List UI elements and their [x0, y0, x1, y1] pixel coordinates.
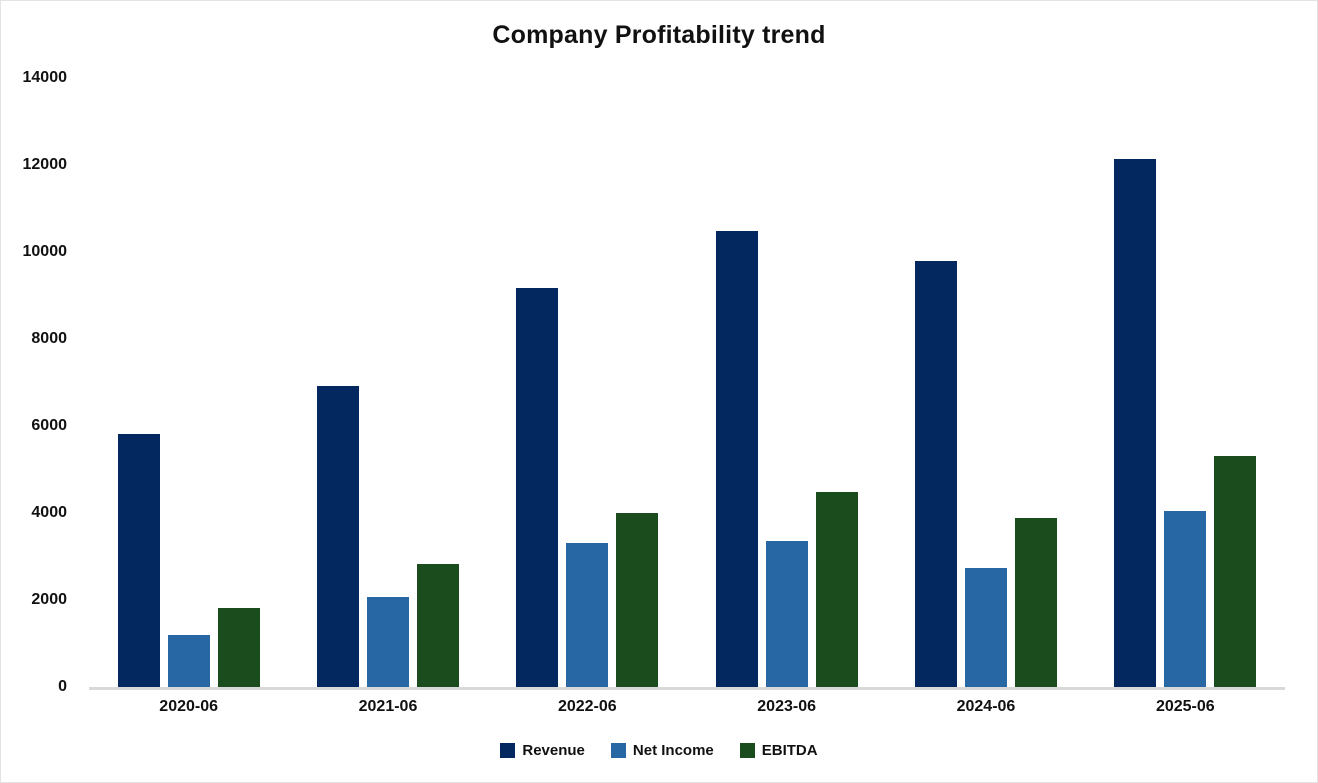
bar-group-2025-06 — [1086, 78, 1285, 687]
chart-title: Company Profitability trend — [1, 21, 1317, 50]
y-axis: 02000400060008000100001200014000 — [1, 78, 81, 687]
bar-revenue-2021-06[interactable] — [317, 386, 359, 687]
chart-container: Company Profitability trend 020004000600… — [0, 0, 1318, 783]
bar-ebitda-2024-06[interactable] — [1015, 518, 1057, 687]
bar-net-income-2024-06[interactable] — [965, 568, 1007, 687]
legend-swatch-icon — [500, 743, 515, 758]
x-axis-tick-label: 2024-06 — [886, 698, 1085, 716]
legend-label: Net Income — [633, 742, 714, 759]
bar-net-income-2021-06[interactable] — [367, 597, 409, 687]
legend-label: EBITDA — [762, 742, 818, 759]
x-axis: 2020-062021-062022-062023-062024-062025-… — [89, 698, 1285, 716]
x-axis-tick-label: 2020-06 — [89, 698, 288, 716]
legend-item-net-income[interactable]: Net Income — [611, 742, 714, 759]
bar-ebitda-2022-06[interactable] — [616, 513, 658, 687]
bar-group-2021-06 — [288, 78, 487, 687]
bar-group-2023-06 — [687, 78, 886, 687]
bar-revenue-2023-06[interactable] — [716, 231, 758, 687]
legend-swatch-icon — [740, 743, 755, 758]
y-axis-tick-label: 2000 — [31, 591, 67, 609]
bar-revenue-2025-06[interactable] — [1114, 159, 1156, 687]
x-axis-tick-label: 2022-06 — [488, 698, 687, 716]
y-axis-tick-label: 0 — [58, 678, 67, 696]
bar-net-income-2022-06[interactable] — [566, 543, 608, 687]
bar-ebitda-2020-06[interactable] — [218, 608, 260, 687]
x-axis-tick-label: 2023-06 — [687, 698, 886, 716]
y-axis-tick-label: 6000 — [31, 417, 67, 435]
bar-net-income-2025-06[interactable] — [1164, 511, 1206, 687]
bar-group-2022-06 — [488, 78, 687, 687]
legend-item-revenue[interactable]: Revenue — [500, 742, 585, 759]
bar-group-2020-06 — [89, 78, 288, 687]
y-axis-tick-label: 14000 — [23, 69, 68, 87]
y-axis-tick-label: 10000 — [23, 243, 68, 261]
x-axis-tick-label: 2025-06 — [1086, 698, 1285, 716]
bar-net-income-2023-06[interactable] — [766, 541, 808, 687]
x-axis-baseline — [89, 687, 1285, 690]
y-axis-tick-label: 12000 — [23, 156, 68, 174]
chart-legend: RevenueNet IncomeEBITDA — [1, 742, 1317, 759]
x-axis-tick-label: 2021-06 — [288, 698, 487, 716]
legend-item-ebitda[interactable]: EBITDA — [740, 742, 818, 759]
bar-ebitda-2023-06[interactable] — [816, 492, 858, 687]
legend-label: Revenue — [522, 742, 585, 759]
bar-revenue-2024-06[interactable] — [915, 261, 957, 687]
bar-group-2024-06 — [886, 78, 1085, 687]
bar-ebitda-2021-06[interactable] — [417, 564, 459, 687]
legend-swatch-icon — [611, 743, 626, 758]
y-axis-tick-label: 8000 — [31, 330, 67, 348]
bar-ebitda-2025-06[interactable] — [1214, 456, 1256, 687]
bar-net-income-2020-06[interactable] — [168, 635, 210, 687]
bar-groups — [89, 78, 1285, 687]
bar-revenue-2022-06[interactable] — [516, 288, 558, 687]
y-axis-tick-label: 4000 — [31, 504, 67, 522]
bar-revenue-2020-06[interactable] — [118, 434, 160, 687]
